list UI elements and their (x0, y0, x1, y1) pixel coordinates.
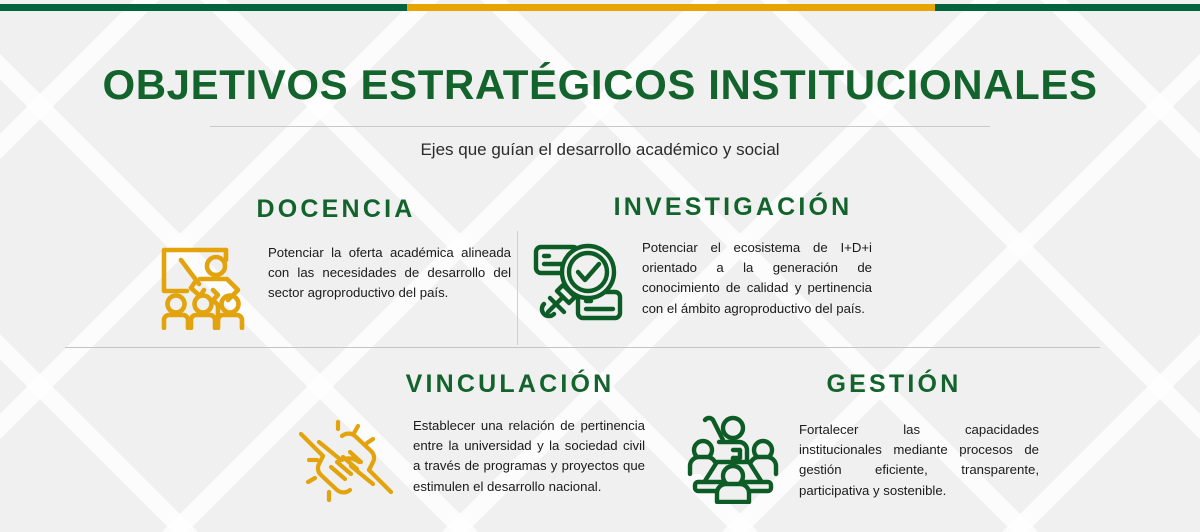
meeting-presentation-icon (685, 412, 781, 504)
top-accent-bar-gold-segment (407, 4, 935, 11)
page-title: OBJETIVOS ESTRATÉGICOS INSTITUCIONALES (0, 62, 1200, 108)
pillar-docencia-text: Potenciar la oferta académica alineada c… (268, 243, 511, 304)
pillar-gestion: GESTIÓN (682, 371, 1054, 504)
pillar-investigacion-body: Potenciar el ecosistema de I+D+i orienta… (528, 236, 900, 328)
horizontal-divider (65, 347, 1100, 348)
pillar-gestion-body: Fortalecer las capacidades institucional… (682, 412, 1054, 504)
pillar-vinculacion: VINCULACIÓN (290, 371, 662, 506)
pillar-vinculacion-body: Establecer una relación de pertinencia e… (290, 412, 662, 506)
pillar-docencia-body: Potenciar la oferta académica alineada c… (146, 238, 518, 330)
pillar-vinculacion-heading: VINCULACIÓN (290, 371, 662, 399)
pillar-docencia-heading: DOCENCIA (146, 196, 518, 224)
poster-canvas: OBJETIVOS ESTRATÉGICOS INSTITUCIONALES E… (0, 0, 1200, 532)
title-divider-rule (210, 126, 990, 127)
teacher-blackboard-icon (154, 238, 250, 330)
page-subtitle: Ejes que guían el desarrollo académico y… (0, 138, 1200, 162)
pillar-docencia: DOCENCIA (146, 196, 518, 330)
pillar-investigacion-text: Potenciar el ecosistema de I+D+i orienta… (642, 238, 872, 320)
pillar-gestion-heading: GESTIÓN (682, 371, 1054, 399)
pillar-investigacion: INVESTIGACIÓN (528, 194, 900, 328)
top-accent-bar (0, 4, 1200, 11)
pillar-vinculacion-text: Establecer una relación de pertinencia e… (413, 416, 645, 498)
pillar-gestion-text: Fortalecer las capacidades institucional… (799, 420, 1039, 502)
handshake-icon (295, 412, 397, 506)
pillar-investigacion-heading: INVESTIGACIÓN (528, 194, 900, 222)
magnifier-check-icon (530, 236, 626, 328)
